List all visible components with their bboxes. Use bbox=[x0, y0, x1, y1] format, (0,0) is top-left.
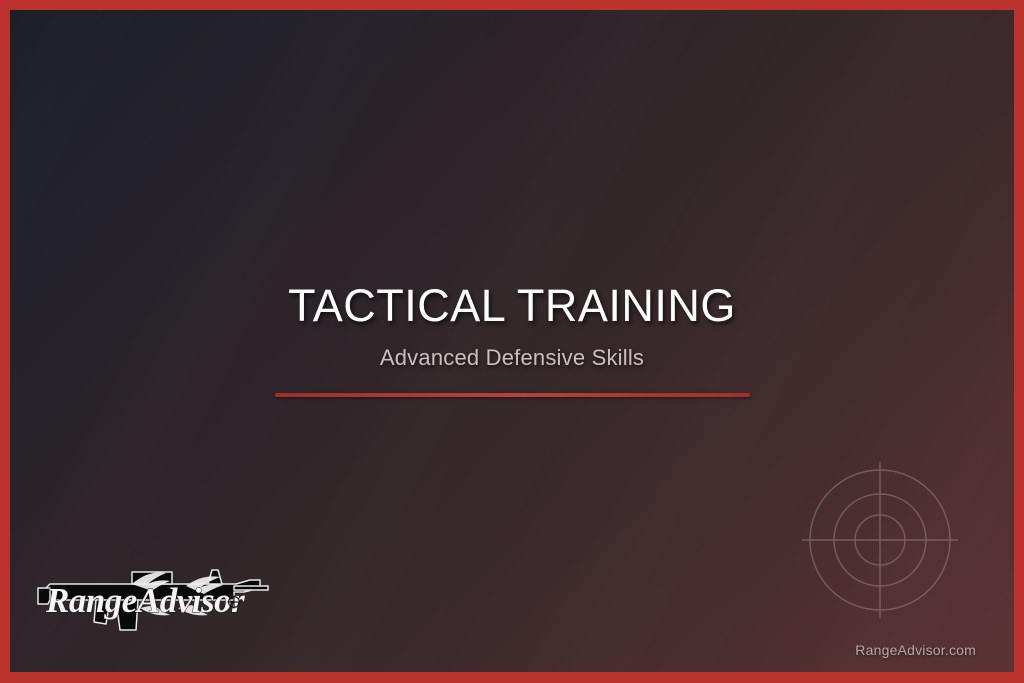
title-block: TACTICAL TRAINING Advanced Defensive Ski… bbox=[10, 282, 1014, 397]
slide-title: TACTICAL TRAINING bbox=[10, 282, 1014, 329]
slide-canvas: TACTICAL TRAINING Advanced Defensive Ski… bbox=[10, 10, 1014, 672]
slide-subtitle: Advanced Defensive Skills bbox=[10, 345, 1014, 371]
crosshair-target-icon bbox=[800, 460, 960, 620]
brand-logo: RangeAdvisor bbox=[36, 554, 270, 640]
title-divider bbox=[275, 393, 750, 397]
slide-frame: TACTICAL TRAINING Advanced Defensive Ski… bbox=[0, 0, 1024, 683]
brand-wordmark: RangeAdvisor bbox=[45, 581, 245, 620]
footer-url: RangeAdvisor.com bbox=[855, 642, 976, 658]
